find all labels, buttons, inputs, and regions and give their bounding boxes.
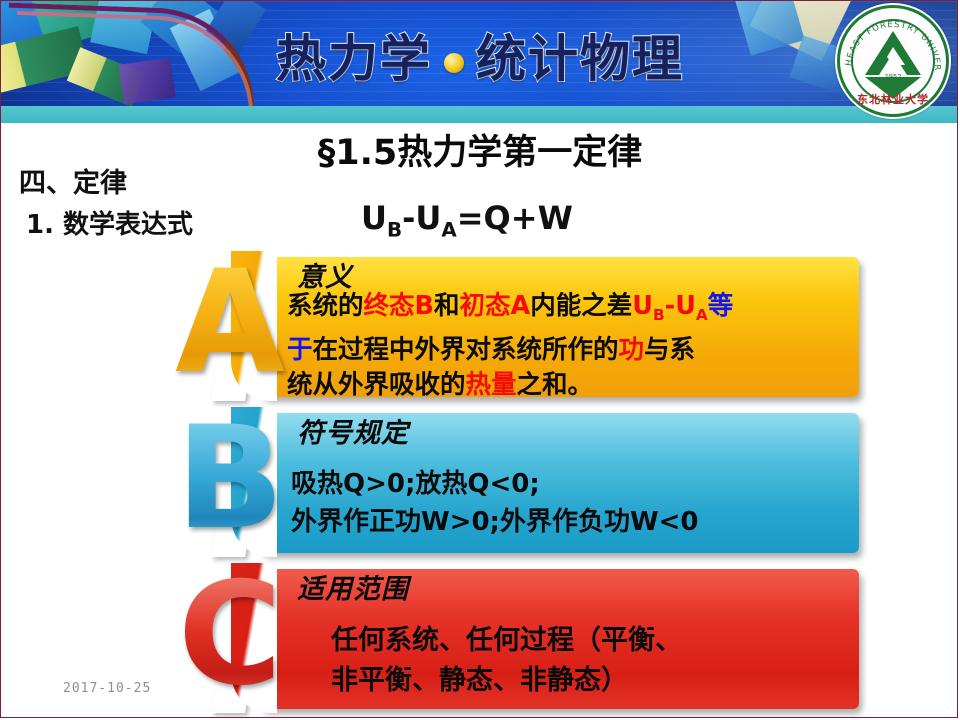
panel-b-letter: B (171, 413, 289, 553)
title-banner: 热力学统计物理 (1, 1, 958, 106)
panel-row-c: 适用范围 任何系统、任何过程（平衡、 非平衡、静态、非静态） C (161, 563, 861, 713)
teal-divider-bar (1, 106, 958, 123)
panel-c-line-2: 非平衡、静态、非静态） (331, 661, 849, 701)
banner-title-left: 热力学 (276, 30, 432, 88)
heading-four: 四、定律 (19, 161, 127, 200)
panel-b-line-1: 吸热Q>0;放热Q<0; (291, 465, 849, 503)
panel-a-header: 意义 (297, 255, 353, 294)
logo-chinese-name: 东北林业大学 (835, 91, 951, 107)
panel-c-line-1: 任何系统、任何过程（平衡、 (331, 621, 849, 661)
logo-year: 1952 (835, 73, 951, 81)
slide-date: 2017-10-25 (63, 681, 151, 696)
panel-b-header: 符号规定 (297, 411, 409, 450)
panel-a-body: 系统的终态B和初态A内能之差UB-UA等 于在过程中外界对系统所作的功与系 统从… (287, 289, 855, 403)
panel-b-body: 吸热Q>0;放热Q<0; 外界作正功W>0;外界作负功W<0 (291, 465, 849, 541)
section-title: §1.5热力学第一定律 (1, 124, 958, 175)
banner-title-right: 统计物理 (476, 30, 684, 88)
slide: 热力学统计物理 NORTHEAST FORESTRY UNIVERSITY 19… (0, 0, 958, 718)
gold-dot-icon (444, 53, 464, 73)
panel-a-line-1: 系统的终态B和初态A内能之差UB-UA等 (287, 289, 855, 333)
panel-row-a: 意义 系统的终态B和初态A内能之差UB-UA等 于在过程中外界对系统所作的功与系… (161, 251, 861, 401)
panel-c-header: 适用范围 (297, 567, 409, 606)
panel-b-line-2: 外界作正功W>0;外界作负功W<0 (291, 503, 849, 541)
panel-a-letter: A (171, 257, 289, 397)
panel-row-b: 符号规定 吸热Q>0;放热Q<0; 外界作正功W>0;外界作负功W<0 B (161, 407, 861, 557)
university-logo: NORTHEAST FORESTRY UNIVERSITY 1952 东北林业大… (835, 3, 951, 119)
panel-c: 适用范围 任何系统、任何过程（平衡、 非平衡、静态、非静态） (261, 569, 859, 709)
panel-c-letter: C (171, 569, 289, 709)
banner-title: 热力学统计物理 (1, 19, 958, 91)
panel-a: 意义 系统的终态B和初态A内能之差UB-UA等 于在过程中外界对系统所作的功与系… (261, 257, 859, 397)
panel-c-body: 任何系统、任何过程（平衡、 非平衡、静态、非静态） (331, 621, 849, 701)
heading-one: 1. 数学表达式 (26, 204, 193, 241)
panel-b: 符号规定 吸热Q>0;放热Q<0; 外界作正功W>0;外界作负功W<0 (261, 413, 859, 553)
formula-expression: UB-UA=Q+W (361, 199, 573, 241)
panel-a-line-2: 于在过程中外界对系统所作的功与系 (287, 333, 855, 368)
panel-a-line-3: 统从外界吸收的热量之和。 (287, 368, 855, 403)
